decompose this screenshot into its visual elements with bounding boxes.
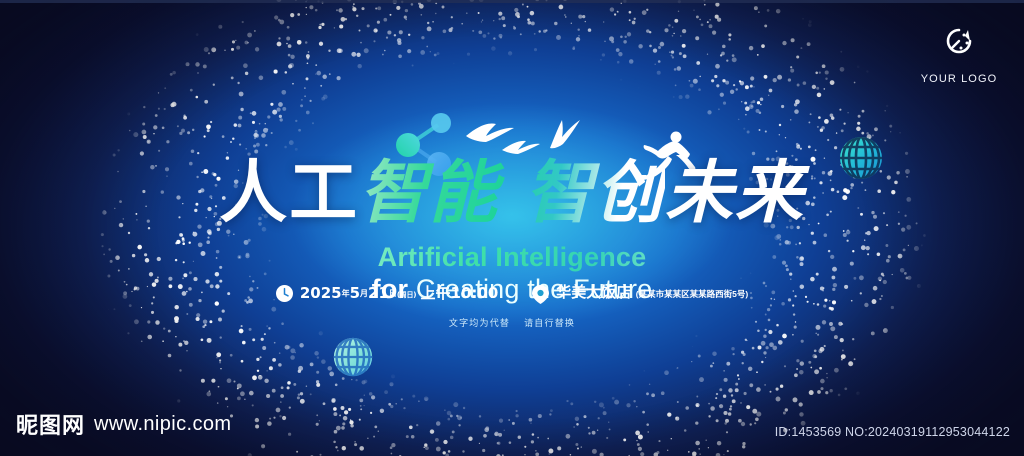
event-info-row: 2025年5月21日(周日) 上午10:00 华美大饭店 (某某市某某区某某路西…: [0, 284, 1024, 309]
event-date-year: 2025: [300, 284, 342, 302]
top-edge-line: [0, 0, 1024, 3]
event-date-day: 21: [368, 284, 389, 302]
note-right: 请自行替换: [524, 318, 575, 328]
image-id-code: ID:1453569 NO:20240319112953044122: [775, 425, 1010, 439]
note-left: 文字均为代替: [449, 318, 510, 328]
event-date-month-label: 月: [360, 289, 368, 298]
event-date-day-label: 日: [389, 289, 397, 298]
datetime-text: 2025年5月21日(周日) 上午10:00: [300, 284, 498, 303]
clock-icon: [276, 285, 293, 307]
event-date-line: 2025年5月21日(周日): [300, 284, 416, 302]
poster-canvas: 人工智能 智创未来 Artificial Intelligence for Cr…: [0, 0, 1024, 456]
title-part-3: 未来: [665, 154, 805, 233]
title-part-2: 智能 智创: [359, 154, 665, 233]
venue-address: (某某市某某区某某路西街5号): [636, 289, 748, 299]
subtitle-line-1: Artificial Intelligence: [0, 242, 1024, 272]
striped-globe-icon: [332, 336, 374, 378]
logo-label: YOUR LOGO: [921, 73, 998, 85]
event-date-year-label: 年: [342, 289, 350, 298]
title-part-1: 人工: [219, 154, 359, 233]
event-weekday: (周日): [397, 291, 416, 299]
watermark: 昵图网 www.nipic.com: [16, 408, 231, 440]
circular-arrow-clock-icon: [916, 24, 1002, 63]
title-block: 人工智能 智创未来 Artificial Intelligence for Cr…: [0, 160, 1024, 304]
watermark-url: www.nipic.com: [94, 413, 231, 436]
event-date-month: 5: [350, 284, 360, 302]
event-time: 上午10:00: [421, 284, 499, 302]
watermark-brand-cn: 昵图网: [16, 408, 85, 440]
event-venue: 华美大饭店 (某某市某某区某某路西街5号): [532, 284, 748, 309]
venue-name: 华美大饭店: [556, 284, 631, 301]
location-pin-icon: [532, 285, 549, 309]
event-datetime: 2025年5月21日(周日) 上午10:00: [276, 284, 498, 307]
page-title: 人工智能 智创未来: [0, 160, 1024, 228]
logo-block[interactable]: YOUR LOGO: [916, 24, 1002, 87]
venue-text: 华美大饭店 (某某市某某区某某路西街5号): [556, 284, 748, 302]
placeholder-note: 文字均为代替请自行替换: [0, 316, 1024, 329]
